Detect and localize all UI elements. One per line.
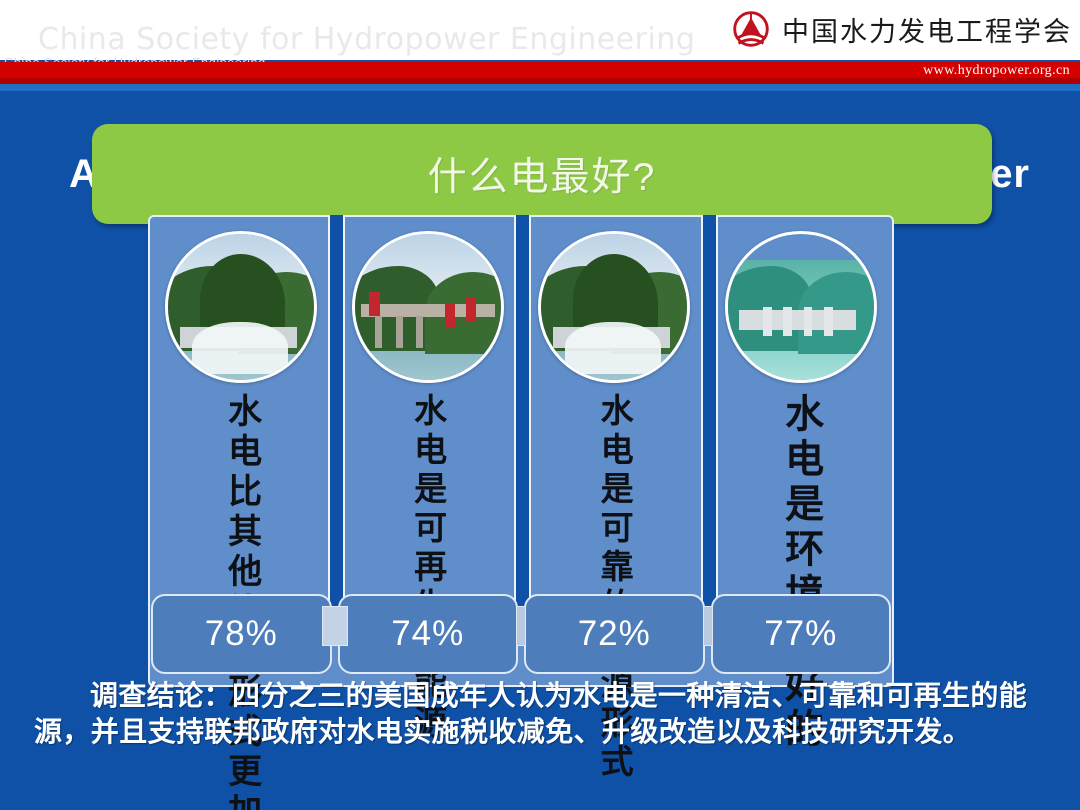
page-header: China Society for Hydropower Engineering… — [0, 0, 1080, 60]
connector-nub-icon — [516, 606, 526, 646]
percentage-badge: 78% — [151, 594, 332, 674]
hydropower-society-logo-icon — [728, 6, 774, 52]
infographic-column: 水电是可靠的能源形式 — [521, 215, 708, 623]
connector-nub-icon — [322, 606, 348, 646]
percentage-slot: 77% — [708, 594, 895, 674]
percentage-badge: 72% — [524, 594, 705, 674]
conclusion-text: 调查结论：四分之三的美国成年人认为水电是一种清洁、可靠和可再生的能源，并且支持联… — [34, 678, 1048, 750]
green-banner: 什么电最好? — [92, 124, 992, 224]
infographic-columns: 水电比其他能源形式更加清洁 水电是可再生的能源 — [148, 215, 894, 623]
connector-nub-icon — [703, 606, 713, 646]
header-logo-group: 中国水力发电工程学会 — [728, 6, 1072, 52]
percentage-slot: 78% — [148, 594, 335, 674]
percentage-slot: 74% — [335, 594, 522, 674]
header-ghost-title: China Society for Hydropower Engineering — [38, 22, 695, 57]
infographic-column: 水电是可再生的能源 — [335, 215, 522, 623]
dam-bridge-photo-2 — [352, 231, 504, 383]
percentage-badge: 77% — [711, 594, 892, 674]
green-banner-text: 什么电最好? — [428, 146, 657, 202]
infographic-column: 水电比其他能源形式更加清洁 — [148, 215, 335, 623]
org-name-label: 中国水力发电工程学会 — [782, 10, 1072, 49]
percentage-row: 78% 74% 72% 77% — [148, 594, 894, 674]
slide-root: China Society for Hydropower Engineering… — [0, 0, 1080, 810]
dam-spillway-photo-1 — [165, 231, 317, 383]
dam-reservoir-photo-4 — [725, 231, 877, 383]
dam-spillway-photo-3 — [538, 231, 690, 383]
header-blue-rule — [0, 84, 1080, 91]
percentage-badge: 74% — [338, 594, 519, 674]
infographic-column: 水电是环境友好的 — [708, 215, 895, 623]
percentage-slot: 72% — [521, 594, 708, 674]
website-url-label: www.hydropower.org.cn — [923, 63, 1070, 79]
